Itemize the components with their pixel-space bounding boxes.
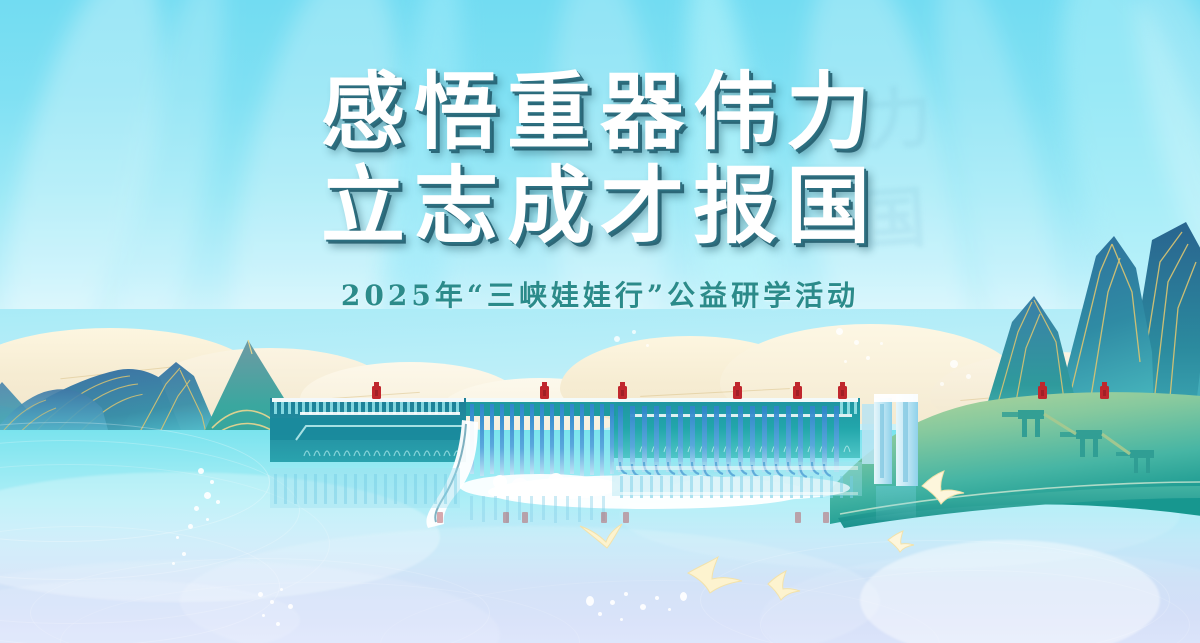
bird-icon-1 [578, 520, 628, 554]
bird-icon-5 [886, 530, 916, 554]
banner-subtitle: 2025年“三峡娃娃行”公益研学活动 [0, 274, 1200, 314]
banner-stage: 力 国 [0, 0, 1200, 643]
green-hillside [830, 386, 1200, 546]
bird-icon-3 [764, 570, 802, 602]
title-line-1: 感悟重器伟力 [0, 66, 1200, 158]
bird-icon-4 [920, 470, 966, 510]
banner-text-block: 感悟重器伟力 立志成才报国 2025年“三峡娃娃行”公益研学活动 [0, 66, 1200, 314]
title-line-2: 立志成才报国 [0, 160, 1200, 252]
bird-icon-2 [686, 555, 746, 597]
